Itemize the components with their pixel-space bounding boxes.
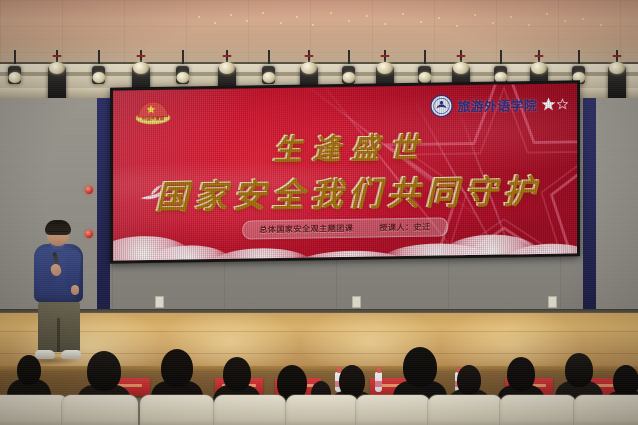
attendee-head — [161, 349, 193, 387]
ceiling-downlight-icon — [438, 17, 440, 19]
wall-outlet-icon — [548, 296, 557, 308]
ceiling-downlight-icon — [456, 25, 458, 27]
auditorium-seat[interactable] — [0, 395, 68, 425]
auditorium-seat[interactable] — [214, 395, 286, 425]
attendee-head — [403, 347, 437, 387]
ceiling-downlight-icon — [262, 12, 264, 14]
ceiling-downlight-icon — [420, 21, 422, 23]
wall-outlet-icon — [352, 296, 361, 308]
university-seal-icon — [430, 94, 453, 117]
logo-stars-group — [541, 96, 568, 111]
ceiling-downlight-icon — [214, 22, 216, 24]
emergency-light-icon — [85, 186, 93, 194]
navy-wall-stripe-left — [97, 98, 110, 313]
headline-line1-text: 生逢盛世 — [272, 132, 427, 166]
ceiling-downlight-icon — [546, 13, 548, 15]
auditorium-seat[interactable] — [574, 395, 638, 425]
screen-subtitle-pill: 总体国家安全观主题团课 授课人：史迁 — [242, 217, 448, 239]
wall-right-panel — [596, 98, 638, 313]
auditorium-seat[interactable] — [500, 395, 576, 425]
five-point-star-icon — [557, 98, 568, 109]
screen-headline-line1: 生逢盛世 — [113, 121, 577, 170]
presenter-standing — [30, 222, 92, 362]
ceiling-downlight-icon — [510, 16, 512, 18]
attendee-head — [613, 365, 638, 397]
ceiling-downlight-icon — [366, 15, 368, 17]
ceiling-downlight-icon — [330, 12, 332, 14]
ceiling-downlight-icon — [582, 18, 584, 20]
ceiling-downlight-icon — [246, 20, 248, 22]
school-name-label: 旅游外语学院 — [457, 94, 537, 114]
led-display-screen: 中国共青团 旅游外语学院 — [110, 80, 580, 263]
navy-wall-stripe-right — [583, 98, 596, 313]
attendee-head — [17, 355, 41, 385]
ceiling-downlight-icon — [384, 23, 386, 25]
ceiling-downlight-icon — [600, 24, 602, 26]
ceiling-downlight-icon — [564, 20, 566, 22]
auditorium-seat[interactable] — [286, 395, 358, 425]
seating-row — [0, 395, 638, 425]
wall-outlet-icon — [155, 296, 164, 308]
communist-youth-league-emblem: 中国共青团 — [131, 100, 175, 127]
auditorium-seat[interactable] — [140, 395, 214, 425]
ceiling-downlight-icon — [474, 14, 476, 16]
auditorium-scene: 中国共青团 旅游外语学院 — [0, 0, 638, 425]
ceiling-downlight-icon — [280, 22, 282, 24]
auditorium-seat[interactable] — [356, 395, 430, 425]
ceiling-downlight-icon — [312, 24, 314, 26]
ceiling-downlight-icon — [296, 16, 298, 18]
attendee-head — [565, 353, 593, 387]
ceiling-downlight-icon — [230, 14, 232, 16]
subtitle-topic: 总体国家安全观主题团课 — [259, 220, 353, 238]
glasses-icon — [48, 231, 68, 237]
auditorium-seat[interactable] — [62, 395, 138, 425]
led-screen-content: 中国共青团 旅游外语学院 — [113, 83, 577, 260]
ceiling-downlight-icon — [528, 24, 530, 26]
attendee-head — [87, 351, 121, 391]
headline-line2-text: 国家安全我们共同守护 — [155, 174, 541, 216]
presenter-leg-gap — [57, 318, 60, 352]
attendee-head — [457, 365, 481, 395]
auditorium-seat[interactable] — [428, 395, 502, 425]
ceiling-downlight-icon — [402, 13, 404, 15]
five-point-star-icon — [541, 96, 556, 111]
attendee-head — [223, 357, 251, 391]
ceiling-downlight-icon — [492, 22, 494, 24]
ceiling-downlight-icon — [198, 16, 200, 18]
ceiling-downlight-icon — [348, 20, 350, 22]
school-logo-group: 旅游外语学院 — [430, 91, 568, 117]
screen-headline-line2: 国家安全我们共同守护 — [113, 163, 577, 218]
attendee-head — [507, 357, 535, 391]
presenter-hand-right — [71, 285, 79, 295]
attendee-head — [339, 365, 365, 397]
subtitle-speaker: 授课人：史迁 — [379, 219, 430, 237]
